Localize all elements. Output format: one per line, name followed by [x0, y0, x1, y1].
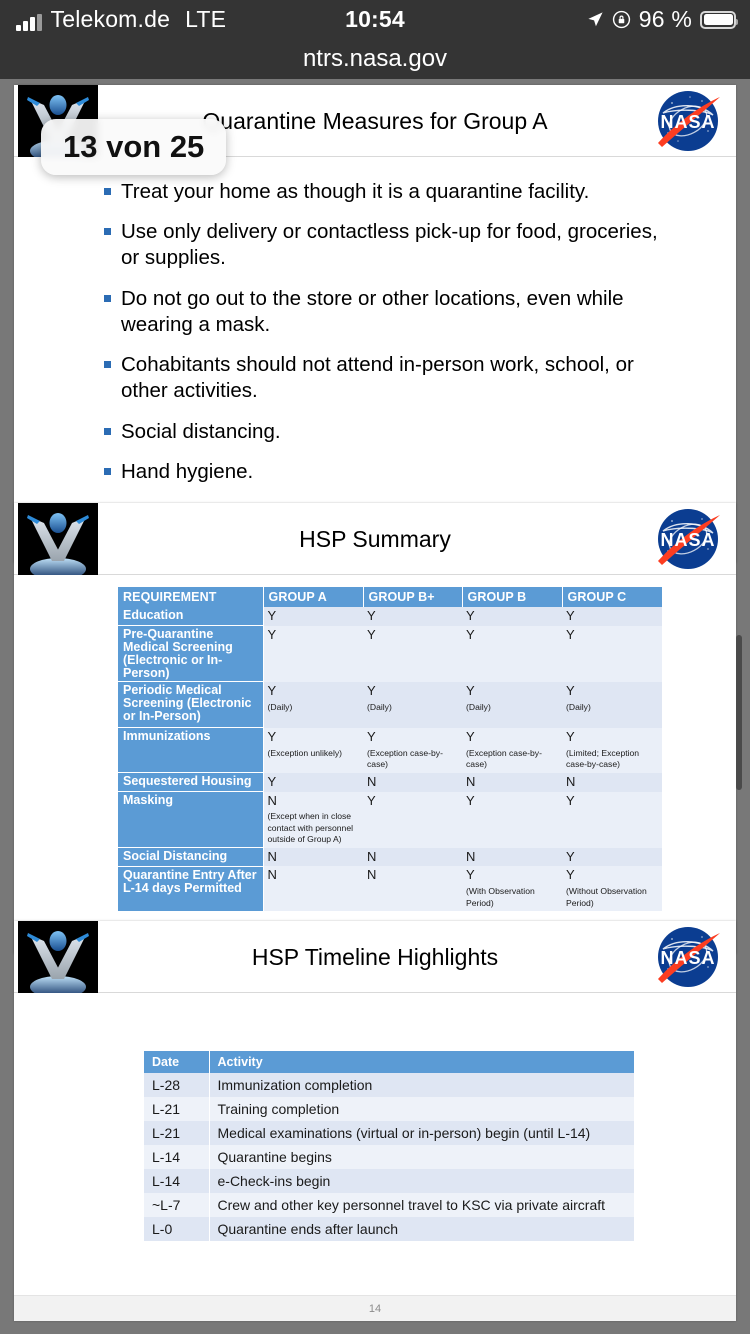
cell-value: N — [363, 848, 462, 867]
cell-value: N — [462, 773, 562, 792]
cell-note: (Daily) — [268, 702, 360, 713]
column-header: GROUP B — [462, 587, 562, 607]
cell-value: Y — [263, 607, 363, 626]
table-row: L-14 e-Check-ins begin — [144, 1169, 634, 1193]
table-row: L-0 Quarantine ends after launch — [144, 1217, 634, 1241]
row-label: Education — [118, 607, 263, 626]
cell-value: Y(Daily) — [263, 682, 363, 728]
cell-date: L-0 — [144, 1217, 209, 1241]
bullet-square-icon — [104, 228, 111, 235]
cell-value: N(Except when in close contact with pers… — [263, 792, 363, 848]
table-row: Periodic Medical Screening (Electronic o… — [118, 682, 662, 728]
battery-percentage-label: 96 % — [639, 6, 692, 33]
bullet-square-icon — [104, 188, 111, 195]
table-row: Quarantine Entry After L-14 days Permitt… — [118, 866, 662, 911]
rotation-lock-icon — [612, 10, 631, 29]
bullet-text: Use only delivery or contactless pick-up… — [121, 219, 676, 271]
cell-value: Y(Exception case-by-case) — [462, 728, 562, 773]
slide-body: Treat your home as though it is a quaran… — [14, 157, 736, 537]
cell-date: L-14 — [144, 1145, 209, 1169]
svg-text:NASA: NASA — [660, 530, 715, 550]
table-row: ~L-7 Crew and other key personnel travel… — [144, 1193, 634, 1217]
column-header: GROUP C — [562, 587, 662, 607]
list-item: Use only delivery or contactless pick-up… — [104, 219, 676, 271]
cell-value: N — [562, 773, 662, 792]
cell-value: Y — [263, 626, 363, 682]
cell-value: N — [363, 866, 462, 911]
cell-activity: Quarantine ends after launch — [209, 1217, 634, 1241]
table-row: Pre-Quarantine Medical Screening (Electr… — [118, 626, 662, 682]
cell-date: L-28 — [144, 1073, 209, 1097]
bullet-square-icon — [104, 361, 111, 368]
table-header-row: REQUIREMENT GROUP A GROUP B+ GROUP B GRO… — [118, 587, 662, 607]
cell-note: (Exception unlikely) — [268, 748, 360, 759]
cell-note: (Without Observation Period) — [566, 886, 658, 909]
list-item: Cohabitants should not attend in-person … — [104, 352, 676, 404]
cell-value: Y(Exception unlikely) — [263, 728, 363, 773]
cell-note: (Except when in close contact with perso… — [268, 811, 360, 845]
column-header: REQUIREMENT — [118, 587, 263, 607]
slide-header: HSP Timeline Highlights NASA — [14, 921, 736, 993]
cell-activity: Training completion — [209, 1097, 634, 1121]
carrier-label: Telekom.de — [51, 8, 171, 31]
hsp-timeline-table-wrapper: Date Activity L-28 Immunization completi… — [14, 993, 736, 1295]
cell-value: Y(Exception case-by-case) — [363, 728, 462, 773]
cell-note: (Exception case-by-case) — [367, 748, 458, 771]
cell-value: Y — [462, 607, 562, 626]
cell-activity: Crew and other key personnel travel to K… — [209, 1193, 634, 1217]
cell-activity: Medical examinations (virtual or in-pers… — [209, 1121, 634, 1145]
cell-value: Y — [462, 626, 562, 682]
status-bar-left: Telekom.de LTE — [0, 8, 226, 31]
list-item: Social distancing. — [104, 419, 676, 445]
cell-value: Y — [562, 792, 662, 848]
bullet-square-icon — [104, 428, 111, 435]
row-label: Quarantine Entry After L-14 days Permitt… — [118, 866, 263, 911]
cell-value: N — [462, 848, 562, 867]
bullet-text: Do not go out to the store or other loca… — [121, 286, 676, 338]
cell-value: N — [363, 773, 462, 792]
cell-note: (Daily) — [466, 702, 558, 713]
svg-text:NASA: NASA — [660, 112, 715, 132]
bullet-text: Social distancing. — [121, 419, 281, 445]
svg-text:NASA: NASA — [660, 948, 715, 968]
url-text: ntrs.nasa.gov — [303, 45, 447, 73]
nasa-meatball-logo-icon: NASA — [650, 503, 726, 575]
slide-page-14[interactable]: HSP Timeline Highlights NASA — [14, 921, 736, 1321]
page-indicator-badge: 13 von 25 — [41, 119, 226, 175]
slide-header: HSP Summary NASA — [14, 503, 736, 575]
bullet-square-icon — [104, 468, 111, 475]
cell-value: Y(Daily) — [363, 682, 462, 728]
cell-value: Y — [263, 773, 363, 792]
table-row: Sequestered Housing Y N N N — [118, 773, 662, 792]
slide-title: HSP Summary — [124, 503, 626, 575]
table-row: Immunizations Y(Exception unlikely) Y(Ex… — [118, 728, 662, 773]
cell-note: (Daily) — [367, 702, 458, 713]
hsp-summary-table-wrapper: REQUIREMENT GROUP A GROUP B+ GROUP B GRO… — [14, 575, 736, 928]
row-label: Masking — [118, 792, 263, 848]
list-item: Do not go out to the store or other loca… — [104, 286, 676, 338]
cell-date: L-21 — [144, 1097, 209, 1121]
cell-activity: e-Check-ins begin — [209, 1169, 634, 1193]
row-label: Sequestered Housing — [118, 773, 263, 792]
cell-note: (Daily) — [566, 702, 658, 713]
nasa-meatball-logo-icon: NASA — [650, 921, 726, 993]
cell-value: Y(With Observation Period) — [462, 866, 562, 911]
cell-value: Y(Daily) — [562, 682, 662, 728]
human-research-program-logo-icon — [18, 503, 98, 575]
status-bar-right: 96 % — [587, 6, 750, 33]
cell-value: N — [263, 866, 363, 911]
cell-note: (Limited; Exception case-by-case) — [566, 748, 658, 771]
cell-value: Y — [562, 626, 662, 682]
bullet-list: Treat your home as though it is a quaran… — [14, 157, 736, 509]
column-header: Activity — [209, 1051, 634, 1073]
list-item: Treat your home as though it is a quaran… — [104, 179, 676, 205]
cell-value: Y(Without Observation Period) — [562, 866, 662, 911]
bullet-text: Cohabitants should not attend in-person … — [121, 352, 676, 404]
cell-note: (With Observation Period) — [466, 886, 558, 909]
row-label: Social Distancing — [118, 848, 263, 867]
cell-value: Y(Daily) — [462, 682, 562, 728]
human-research-program-logo-icon — [18, 921, 98, 993]
cell-value: Y — [462, 792, 562, 848]
cell-value: Y(Limited; Exception case-by-case) — [562, 728, 662, 773]
list-item: Hand hygiene. — [104, 459, 676, 485]
table-row: L-21 Training completion — [144, 1097, 634, 1121]
battery-icon — [700, 11, 736, 29]
slide-page-number: 14 — [14, 1295, 736, 1321]
ios-status-bar: Telekom.de LTE 10:54 96 % — [0, 0, 750, 39]
cell-date: L-14 — [144, 1169, 209, 1193]
bullet-text: Hand hygiene. — [121, 459, 253, 485]
cell-value: Y — [562, 848, 662, 867]
cell-activity: Quarantine begins — [209, 1145, 634, 1169]
bullet-text: Treat your home as though it is a quaran… — [121, 179, 589, 205]
cell-value: Y — [363, 792, 462, 848]
cell-activity: Immunization completion — [209, 1073, 634, 1097]
column-header: GROUP A — [263, 587, 363, 607]
column-header: GROUP B+ — [363, 587, 462, 607]
slide-title: HSP Timeline Highlights — [124, 921, 626, 993]
column-header: Date — [144, 1051, 209, 1073]
table-row: L-28 Immunization completion — [144, 1073, 634, 1097]
cell-value: Y — [363, 607, 462, 626]
row-label: Pre-Quarantine Medical Screening (Electr… — [118, 626, 263, 682]
location-arrow-icon — [587, 11, 604, 28]
signal-bars-icon — [16, 15, 42, 31]
slide-page-13[interactable]: HSP Summary NASA — [14, 503, 736, 954]
cell-date: L-21 — [144, 1121, 209, 1145]
table-row: L-14 Quarantine begins — [144, 1145, 634, 1169]
slide-body: Date Activity L-28 Immunization completi… — [14, 993, 736, 1295]
hsp-timeline-table: Date Activity L-28 Immunization completi… — [144, 1051, 634, 1241]
table-row: L-21 Medical examinations (virtual or in… — [144, 1121, 634, 1145]
cell-value: Y — [363, 626, 462, 682]
browser-url-bar[interactable]: ntrs.nasa.gov — [0, 39, 750, 79]
pdf-viewer[interactable]: Quarantine Measures for Group A NASA — [0, 79, 750, 1334]
cell-date: ~L-7 — [144, 1193, 209, 1217]
network-type-label: LTE — [185, 8, 226, 31]
cell-value: N — [263, 848, 363, 867]
cell-note: (Exception case-by-case) — [466, 748, 558, 771]
vertical-scrollbar[interactable] — [736, 635, 742, 790]
hsp-summary-table: REQUIREMENT GROUP A GROUP B+ GROUP B GRO… — [118, 587, 663, 912]
slide-body: REQUIREMENT GROUP A GROUP B+ GROUP B GRO… — [14, 575, 736, 928]
table-header-row: Date Activity — [144, 1051, 634, 1073]
bullet-square-icon — [104, 295, 111, 302]
nasa-meatball-logo-icon: NASA — [650, 85, 726, 157]
table-row: Social Distancing N N N Y — [118, 848, 662, 867]
row-label: Immunizations — [118, 728, 263, 773]
table-row: Masking N(Except when in close contact w… — [118, 792, 662, 848]
cell-value: Y — [562, 607, 662, 626]
row-label: Periodic Medical Screening (Electronic o… — [118, 682, 263, 728]
table-row: Education Y Y Y Y — [118, 607, 662, 626]
